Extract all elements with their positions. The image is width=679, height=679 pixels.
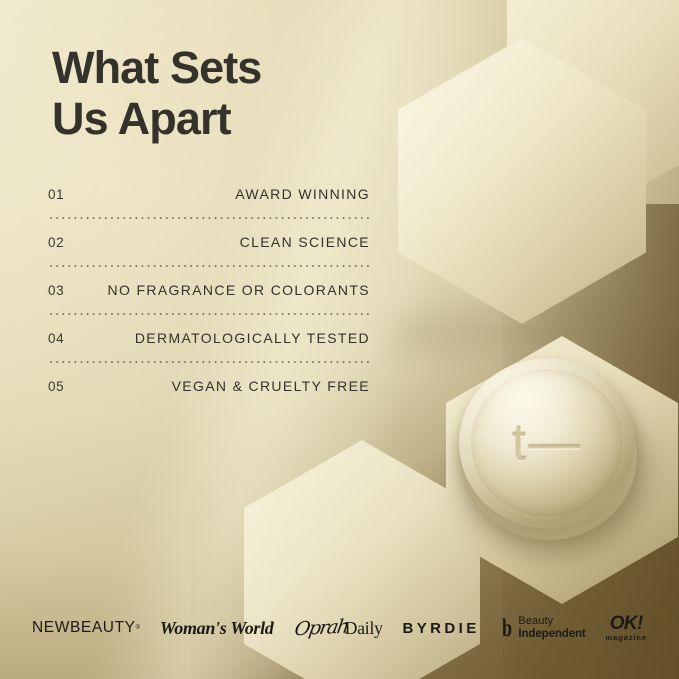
- press-logo-byrdie-text: BYRDIE: [403, 620, 480, 637]
- press-logo-oprah-daily-word: Daily: [345, 618, 383, 638]
- list-item: 01 AWARD WINNING: [48, 180, 370, 208]
- press-logo-ok-magazine: OK! magazine: [606, 614, 647, 642]
- content-layer: What Sets Us Apart 01 AWARD WINNING 02 C…: [0, 0, 679, 679]
- press-logo-womans-world-text: Woman's World: [160, 618, 274, 639]
- list-item-number: 01: [48, 187, 64, 202]
- list-divider: [48, 208, 370, 228]
- press-logo-ok-text: OK!: [610, 614, 643, 633]
- press-logo-newbeauty-text: NEWBEAUTY: [32, 619, 136, 637]
- page-title: What Sets Us Apart: [52, 42, 261, 145]
- list-item-label: DERMATOLOGICALLY TESTED: [135, 330, 370, 346]
- press-logo-newbeauty: NEWBEAUTY®: [32, 619, 140, 637]
- list-item-label: AWARD WINNING: [235, 186, 370, 202]
- list-divider: [48, 352, 370, 372]
- list-divider: [48, 304, 370, 324]
- list-item-number: 04: [48, 331, 64, 346]
- list-divider: [48, 256, 370, 276]
- press-logo-oprah-daily: OprahDaily: [293, 617, 382, 639]
- list-item-label: VEGAN & CRUELTY FREE: [172, 378, 370, 394]
- press-logo-magazine-text: magazine: [606, 634, 647, 642]
- differentiators-list: 01 AWARD WINNING 02 CLEAN SCIENCE 03 NO …: [48, 180, 370, 400]
- list-item: 05 VEGAN & CRUELTY FREE: [48, 372, 370, 400]
- press-logo-beauty-independent: b Beauty Independent: [500, 616, 586, 641]
- beauty-independent-b-icon: b: [501, 616, 511, 641]
- list-item-label: CLEAN SCIENCE: [240, 234, 370, 250]
- list-item-label: NO FRAGRANCE OR COLORANTS: [108, 282, 370, 298]
- list-item: 04 DERMATOLOGICALLY TESTED: [48, 324, 370, 352]
- press-logo-beauty-independent-line2: Independent: [518, 628, 585, 640]
- press-logo-beauty-independent-line1: Beauty: [518, 616, 585, 628]
- list-item: 02 CLEAN SCIENCE: [48, 228, 370, 256]
- list-item-number: 02: [48, 235, 64, 250]
- press-logo-bar: NEWBEAUTY® Woman's World OprahDaily BYRD…: [0, 604, 679, 652]
- registered-trademark-icon: ®: [136, 625, 140, 631]
- list-item-number: 05: [48, 379, 64, 394]
- press-logo-oprah-script: Oprah: [293, 616, 349, 641]
- list-item: 03 NO FRAGRANCE OR COLORANTS: [48, 276, 370, 304]
- press-logo-womans-world: Woman's World: [160, 618, 274, 639]
- promo-graphic: t— What Sets Us Apart 01 AWARD WINNING 0…: [0, 0, 679, 679]
- list-item-number: 03: [48, 283, 64, 298]
- press-logo-byrdie: BYRDIE: [403, 620, 480, 637]
